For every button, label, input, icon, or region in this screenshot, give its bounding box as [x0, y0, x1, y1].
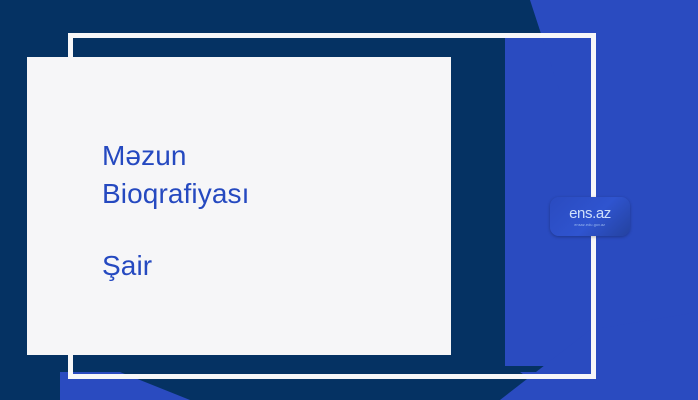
card-text-block: Məzun Bioqrafiyası Şair [102, 137, 427, 285]
logo-wordmark: ens.az [569, 206, 611, 221]
ensaz-logo-badge[interactable]: ens.az ensaz.edu.gov.az [550, 197, 630, 236]
slide-headline: Məzun Bioqrafiyası [102, 137, 427, 213]
slide-subhead: Şair [102, 213, 427, 285]
logo-tagline: ensaz.edu.gov.az [575, 223, 606, 227]
presentation-slide: Məzun Bioqrafiyası Şair ens.az ensaz.edu… [0, 0, 698, 400]
content-card: Məzun Bioqrafiyası Şair [27, 57, 451, 355]
